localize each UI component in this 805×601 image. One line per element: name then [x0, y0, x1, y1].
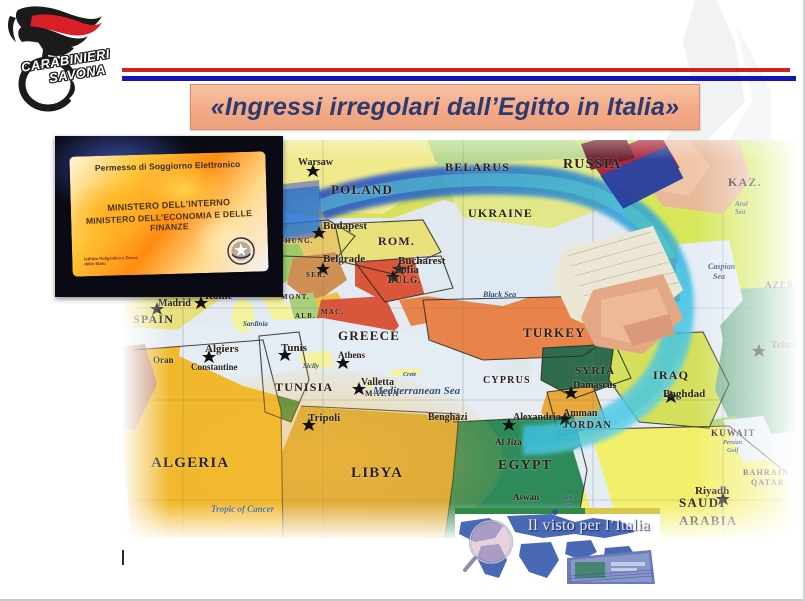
italy-visa-inset: Il visto per l’Italia — [455, 508, 660, 584]
card-ipzs-text: Istituto Poligrafico e Zecca dello Stato — [84, 255, 140, 267]
blue-divider-line — [122, 76, 796, 81]
visa-inset-title: Il visto per l’Italia — [528, 517, 650, 535]
presentation-slide: CARABINIERISAVONA «Ingressi irregolari d… — [0, 0, 805, 601]
repubblica-italiana-emblem-icon — [226, 236, 257, 267]
card-header-text: Permesso di Soggiorno Elettronico — [70, 158, 266, 173]
text-caret-mark — [122, 550, 124, 565]
electronic-residence-permit-card: Permesso di Soggiorno Elettronico MINIST… — [69, 151, 268, 276]
red-divider-line — [122, 68, 790, 72]
residence-permit-card-inset: Permesso di Soggiorno Elettronico MINIST… — [55, 136, 283, 297]
slide-title-banner: «Ingressi irregolari dall’Egitto in Ital… — [190, 84, 700, 130]
page-title: «Ingressi irregolari dall’Egitto in Ital… — [211, 93, 679, 122]
carabinieri-savona-logo: CARABINIERISAVONA — [2, 2, 142, 120]
